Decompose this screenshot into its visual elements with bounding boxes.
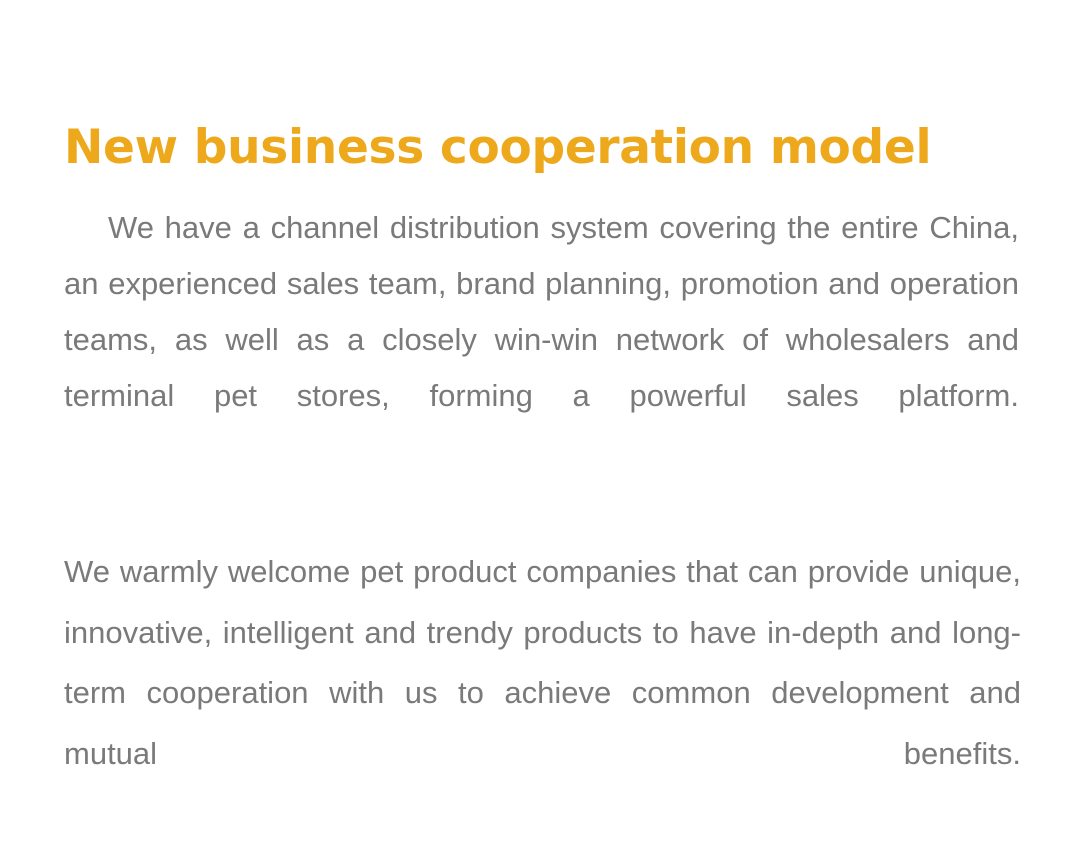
paragraph-spacer	[64, 480, 1019, 542]
slide-canvas: New business cooperation model We have a…	[0, 0, 1080, 855]
body-paragraph-welcome-partners: We warmly welcome pet product companies …	[64, 542, 1021, 845]
body-paragraph-channel-distribution: We have a channel distribution system co…	[64, 200, 1019, 480]
slide-body: We have a channel distribution system co…	[64, 200, 1019, 845]
page-title: New business cooperation model	[64, 119, 1024, 177]
